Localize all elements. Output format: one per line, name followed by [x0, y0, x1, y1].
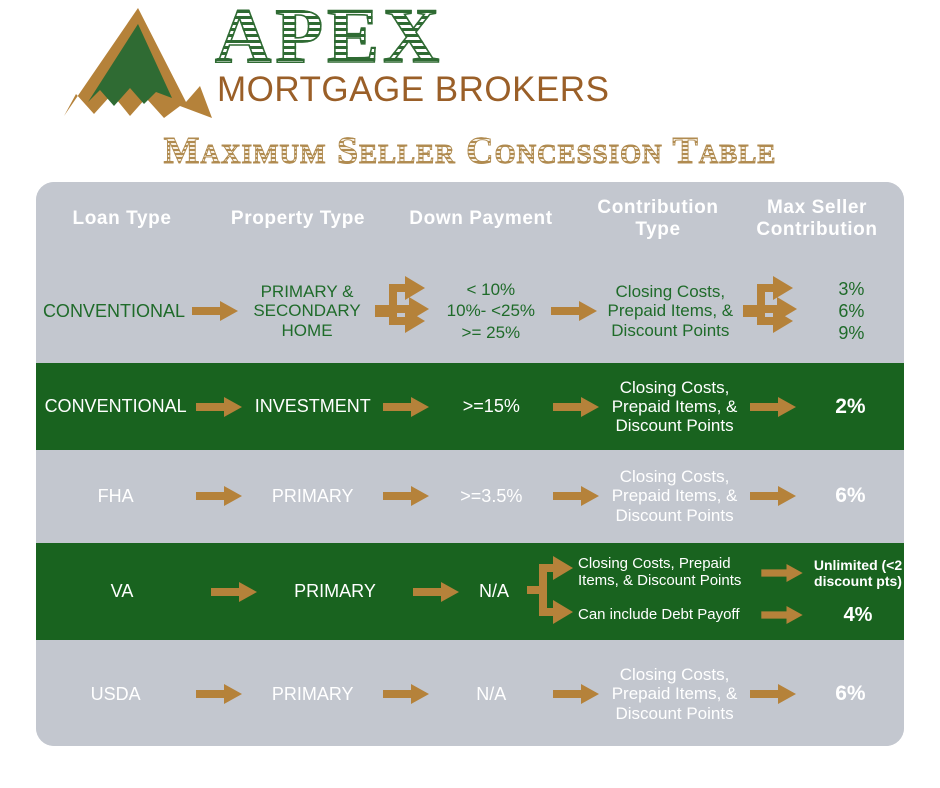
- property-type-value: PRIMARY: [294, 581, 376, 601]
- brand-name-text: APEX: [215, 0, 443, 79]
- down-payment-value: N/A: [476, 684, 506, 704]
- table-row: FHA PRIMARY >=3.5% Closing Costs, Prepai…: [36, 452, 904, 540]
- cell-max-contribution: 3% 6% 9%: [799, 262, 904, 360]
- table-row: VA PRIMARY N/A Closing Cost: [36, 543, 904, 640]
- wordmark: APEX MORTGAGE BROKERS: [215, 2, 615, 122]
- contribution-type-value: Closing Costs, Prepaid Items, & Discount…: [601, 467, 749, 524]
- arrow-icon: [195, 642, 243, 746]
- trident-arrow-icon: [375, 262, 431, 360]
- loan-type-value: FHA: [98, 486, 134, 506]
- max-contribution-value: 2%: [835, 395, 865, 419]
- cell-max-contribution: 6%: [797, 452, 904, 540]
- cell-down-payment: N/A: [462, 543, 526, 640]
- arrow-icon: [382, 363, 430, 450]
- contribution-branch-row: Closing Costs, Prepaid Items, & Discount…: [578, 556, 904, 590]
- cell-loan-type: USDA: [36, 642, 195, 746]
- down-payment-value: >=15%: [463, 396, 520, 416]
- loan-type-value: USDA: [91, 684, 141, 704]
- brand-name: APEX: [215, 0, 443, 72]
- arrow-icon: [749, 452, 797, 540]
- brand-header: APEX MORTGAGE BROKERS: [0, 0, 940, 128]
- down-payment-option: < 10%: [467, 280, 516, 299]
- trident-arrow-icon: [743, 262, 799, 360]
- loan-type-value: CONVENTIONAL: [45, 396, 187, 416]
- property-type-value: PRIMARY: [272, 486, 354, 506]
- cell-contribution-type: Closing Costs, Prepaid Items, & Discount…: [601, 363, 749, 450]
- cell-loan-type: FHA: [36, 452, 195, 540]
- cell-loan-type: VA: [36, 543, 208, 640]
- property-type-value: INVESTMENT: [255, 396, 371, 416]
- max-contribution-value: 6%: [835, 682, 865, 706]
- max-contribution-value: Unlimited (<2 discount pts): [810, 557, 904, 589]
- down-payment-value: N/A: [479, 581, 509, 601]
- arrow-icon: [749, 363, 797, 450]
- arrow-icon: [552, 452, 600, 540]
- arrow-icon: [749, 642, 797, 746]
- table-row: CONVENTIONAL PRIMARY & SECONDARY HOME < …: [36, 262, 904, 360]
- cell-contribution-type: Closing Costs, Prepaid Items, & Discount…: [601, 452, 749, 540]
- cell-max-contribution: 2%: [797, 363, 904, 450]
- arrow-icon: [382, 642, 430, 746]
- cell-property-type: PRIMARY: [243, 642, 382, 746]
- brand-tagline: MORTGAGE BROKERS: [217, 70, 609, 110]
- cell-contribution-branches: Closing Costs, Prepaid Items, & Discount…: [578, 543, 902, 640]
- down-payment-option: 10%- <25%: [447, 301, 535, 320]
- cell-contribution-type: Closing Costs, Prepaid Items, & Discount…: [598, 262, 743, 360]
- arrow-icon: [754, 606, 810, 624]
- property-type-value: PRIMARY & SECONDARY HOME: [239, 282, 375, 339]
- max-contribution-option: 3%: [838, 279, 864, 299]
- contribution-type-value: Can include Debt Payoff: [578, 607, 754, 624]
- cell-down-payment: N/A: [430, 642, 552, 746]
- contribution-type-value: Closing Costs, Prepaid Items, & Discount…: [598, 282, 743, 339]
- column-header-property-type: Property Type: [208, 182, 388, 256]
- column-header-contribution-type: Contribution Type: [574, 182, 742, 256]
- contribution-branch-row: Can include Debt Payoff 4%: [578, 604, 904, 627]
- mountain-icon: [60, 6, 220, 124]
- arrow-icon: [195, 363, 243, 450]
- column-header-max-seller-contribution: Max Seller Contribution: [742, 182, 892, 256]
- table-row: CONVENTIONAL INVESTMENT >=15% Closing Co…: [36, 363, 904, 450]
- arrow-icon: [208, 543, 260, 640]
- down-payment-option: >= 25%: [462, 323, 521, 342]
- cell-loan-type: CONVENTIONAL: [36, 363, 195, 450]
- concession-table: Loan Type Property Type Down Payment Con…: [36, 182, 904, 746]
- contribution-type-value: Closing Costs, Prepaid Items, & Discount…: [601, 665, 749, 722]
- cell-property-type: PRIMARY & SECONDARY HOME: [239, 262, 375, 360]
- arrow-icon: [552, 363, 600, 450]
- cell-property-type: PRIMARY: [243, 452, 382, 540]
- arrow-icon: [195, 452, 243, 540]
- max-contribution-option: 6%: [838, 301, 864, 321]
- table-header-row: Loan Type Property Type Down Payment Con…: [36, 182, 904, 256]
- down-payment-value: >=3.5%: [460, 486, 522, 506]
- arrow-icon: [754, 564, 810, 582]
- cell-down-payment: >=15%: [430, 363, 552, 450]
- max-contribution-option: 9%: [838, 323, 864, 343]
- cell-max-contribution: 6%: [797, 642, 904, 746]
- cell-down-payment: >=3.5%: [430, 452, 552, 540]
- cell-down-payment: < 10% 10%- <25% >= 25%: [431, 262, 551, 360]
- contribution-type-value: Closing Costs, Prepaid Items, & Discount…: [601, 378, 749, 435]
- property-type-value: PRIMARY: [272, 684, 354, 704]
- arrow-icon: [410, 543, 462, 640]
- page-title: Maximum Seller Concession Table: [0, 129, 940, 173]
- arrow-icon: [192, 262, 239, 360]
- loan-type-value: CONVENTIONAL: [43, 301, 185, 321]
- table-row: USDA PRIMARY N/A Closing Costs, Prepaid …: [36, 642, 904, 746]
- arrow-icon: [552, 642, 600, 746]
- fork-arrow-icon: [526, 543, 578, 640]
- cell-property-type: PRIMARY: [260, 543, 410, 640]
- max-contribution-value: 4%: [810, 604, 904, 627]
- cell-contribution-type: Closing Costs, Prepaid Items, & Discount…: [601, 642, 749, 746]
- max-contribution-value: 6%: [835, 484, 865, 508]
- cell-loan-type: CONVENTIONAL: [36, 262, 192, 360]
- arrow-icon: [382, 452, 430, 540]
- contribution-type-value: Closing Costs, Prepaid Items, & Discount…: [578, 556, 754, 590]
- cell-property-type: INVESTMENT: [243, 363, 382, 450]
- column-header-loan-type: Loan Type: [36, 182, 208, 256]
- arrow-icon: [551, 262, 598, 360]
- column-header-down-payment: Down Payment: [388, 182, 574, 256]
- loan-type-value: VA: [111, 581, 134, 601]
